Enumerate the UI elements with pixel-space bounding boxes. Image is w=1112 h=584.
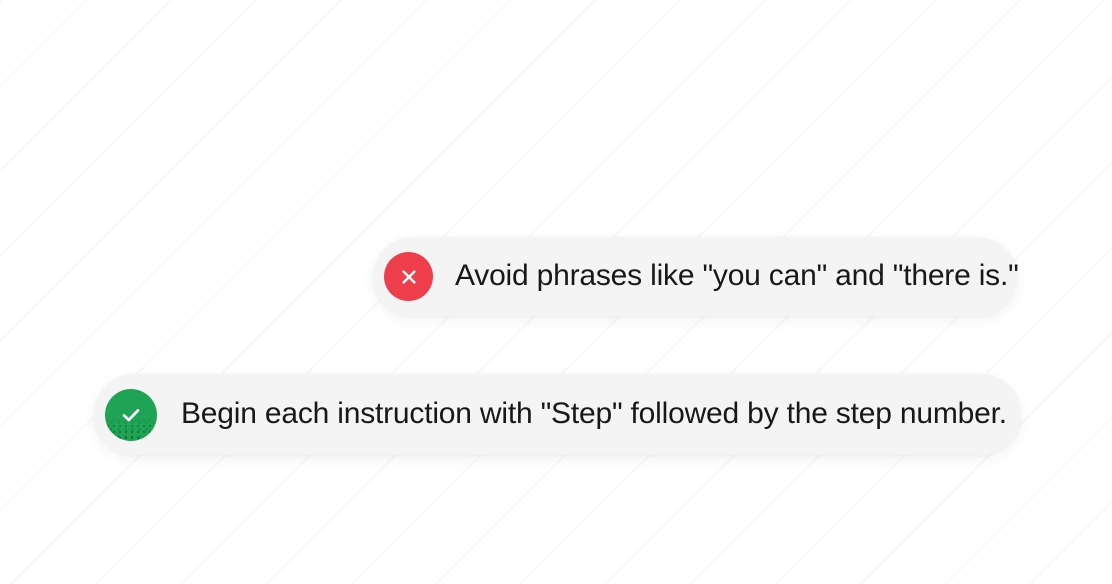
guideline-text-success: Begin each instruction with "Step" follo…: [181, 397, 1007, 432]
guideline-text-error: Avoid phrases like "you can" and "there …: [455, 259, 1019, 294]
x-icon: [397, 265, 421, 289]
guideline-card-success: Begin each instruction with "Step" follo…: [94, 374, 1021, 455]
guideline-card-error: Avoid phrases like "you can" and "there …: [373, 237, 1017, 316]
check-icon: [118, 402, 144, 428]
guideline-canvas: Avoid phrases like "you can" and "there …: [0, 0, 1112, 584]
error-badge: [384, 252, 433, 301]
success-badge: [105, 389, 157, 441]
